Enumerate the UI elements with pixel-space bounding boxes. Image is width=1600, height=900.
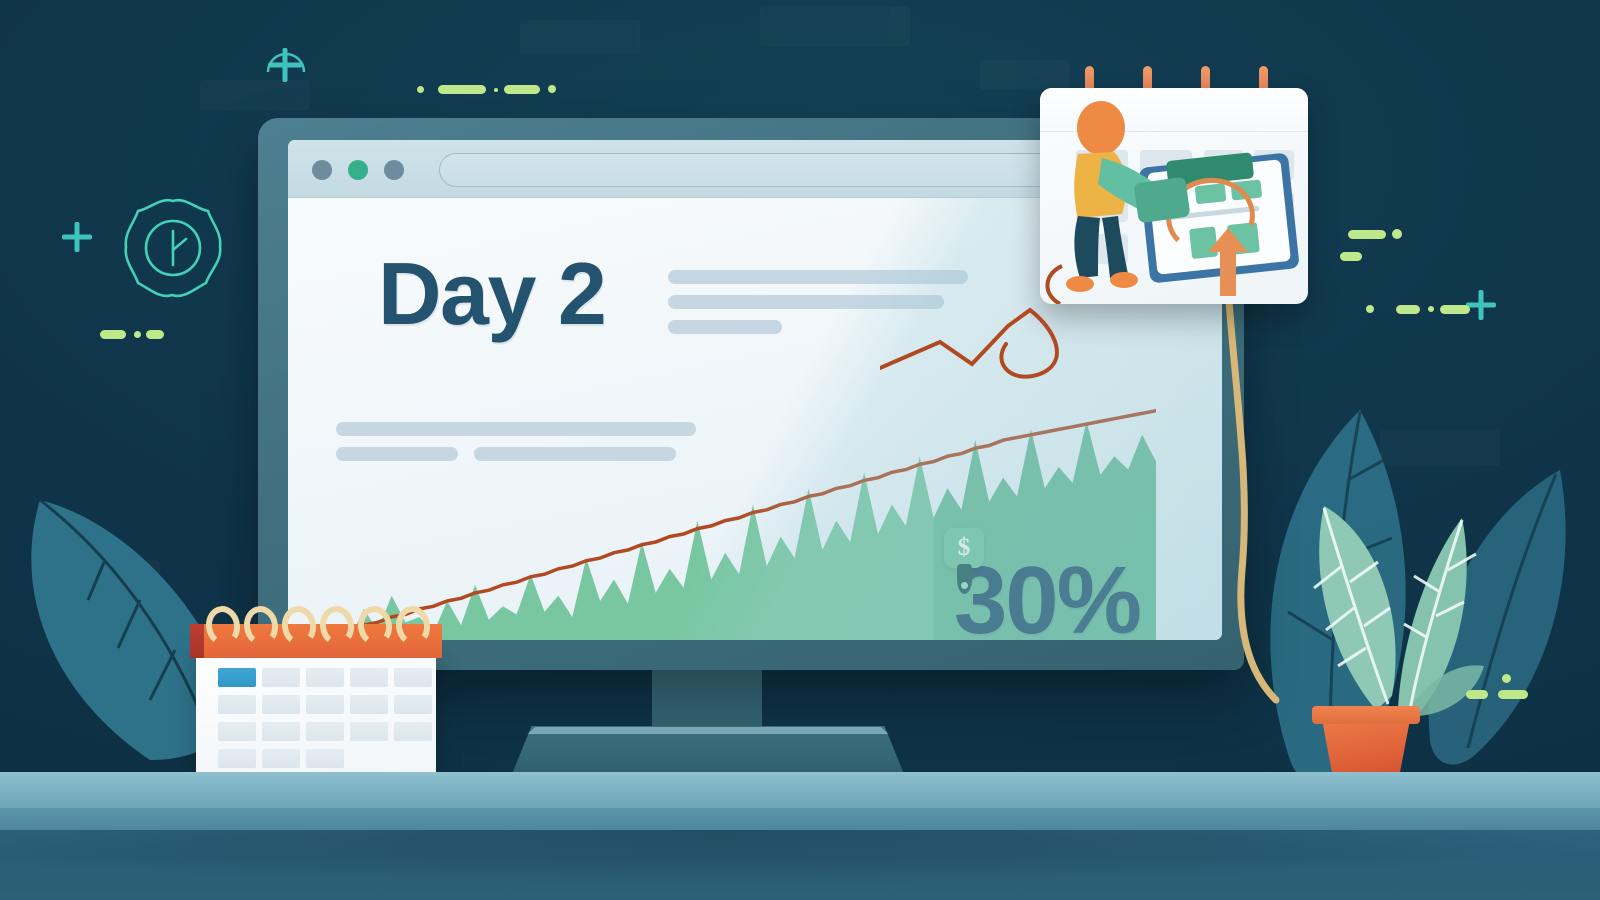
desk-calendar-cell[interactable]: [350, 668, 388, 687]
accent-dot: [1392, 229, 1402, 239]
desk-calendar-cell[interactable]: [218, 749, 256, 768]
accent-dot: [134, 331, 141, 338]
desk-calendar-cell[interactable]: [306, 749, 344, 768]
clock-badge-icon: [120, 195, 226, 303]
accent-dash: [1440, 305, 1470, 314]
desk-calendar-cell[interactable]: [350, 722, 388, 741]
dollar-icon: $: [944, 528, 984, 568]
desk-calendar[interactable]: [190, 600, 442, 778]
desk-surface: [0, 772, 1600, 808]
tag-pin-icon: [957, 564, 972, 594]
plus-icon: [268, 48, 302, 82]
desk-calendar-cell[interactable]: [394, 722, 432, 741]
accent-dot: [1428, 306, 1434, 312]
desk-calendar-cell[interactable]: [262, 722, 300, 741]
desk-edge: [0, 808, 1600, 830]
accent-dash: [146, 330, 164, 339]
desk-calendar-cell[interactable]: [350, 695, 388, 714]
desk-calendar-cell[interactable]: [262, 695, 300, 714]
desk-calendar-cell[interactable]: [262, 749, 300, 768]
page-title: Day 2: [378, 250, 605, 338]
desk-calendar-cell[interactable]: [306, 722, 344, 741]
accent-dot: [548, 85, 556, 93]
desk-calendar-cell[interactable]: [306, 668, 344, 687]
accent-dot: [1366, 305, 1374, 313]
person-with-clipboard: [1040, 88, 1308, 304]
accent-dash: [1396, 305, 1420, 314]
accent-dash: [438, 85, 486, 94]
price-tag-marker[interactable]: $: [944, 528, 984, 572]
accent-dash: [100, 330, 126, 339]
accent-dash: [1466, 690, 1488, 699]
monitor-base-highlight: [516, 727, 900, 734]
accent-dot: [1502, 674, 1511, 683]
desk-shadow: [0, 830, 1600, 890]
desk-calendar-cell[interactable]: [394, 695, 432, 714]
desk-calendar-cell[interactable]: [306, 695, 344, 714]
plant-pot: [1310, 700, 1422, 776]
area-chart: 30% $: [336, 398, 1156, 640]
desk-calendar-cell[interactable]: [218, 695, 256, 714]
accent-dash: [1340, 252, 1362, 261]
minimize-dot[interactable]: [348, 160, 368, 180]
accent-dash: [1348, 230, 1386, 239]
illustration-canvas: Day 2: [0, 0, 1600, 900]
desk-calendar-cell[interactable]: [218, 722, 256, 741]
monitor-neck: [652, 664, 762, 730]
pot-rim: [1312, 706, 1420, 724]
accent-dash: [504, 85, 540, 94]
maximize-dot[interactable]: [384, 160, 404, 180]
plus-icon: [1466, 290, 1496, 320]
skeleton-line: [668, 270, 968, 284]
accent-dot: [417, 86, 424, 93]
accent-dot: [494, 88, 498, 92]
skeleton-line: [668, 320, 782, 334]
desk-calendar-cell-today[interactable]: [218, 668, 256, 687]
skeleton-text-right: [668, 270, 968, 345]
desk-calendar-cell[interactable]: [262, 668, 300, 687]
close-dot[interactable]: [312, 160, 332, 180]
wall-calendar[interactable]: [1040, 88, 1308, 304]
accent-dash: [1498, 690, 1528, 699]
skeleton-line: [668, 295, 944, 309]
desk-calendar-paper: [196, 644, 436, 778]
desk-calendar-cell[interactable]: [394, 668, 432, 687]
plus-icon: [62, 222, 92, 252]
